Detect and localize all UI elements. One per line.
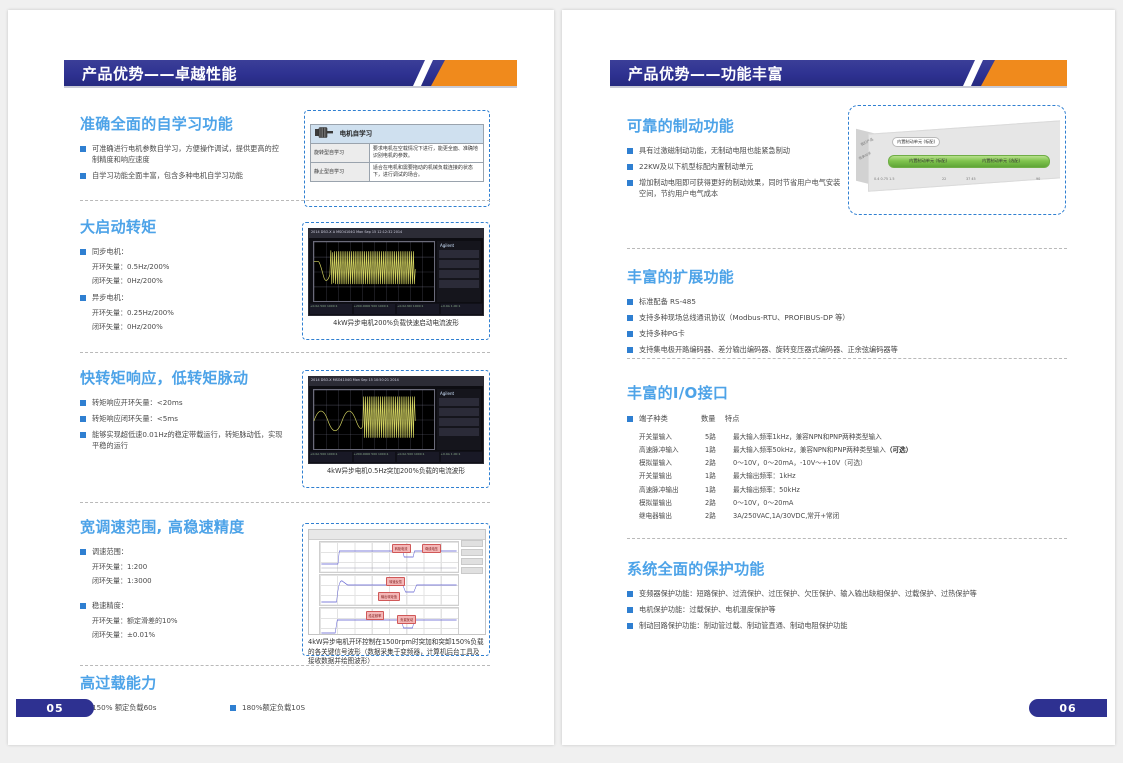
io-feature: 最大输入频率1kHz，兼容NPN和PNP两种类型输入 bbox=[733, 429, 916, 442]
bullet-text: 22KW及以下机型标配内置制动单元 bbox=[639, 161, 753, 172]
page-number: 05 bbox=[46, 702, 63, 715]
bullet-list: 标准配备 RS-485 支持多种现场总线通讯协议（Modbus-RTU、PROF… bbox=[627, 296, 927, 356]
io-quantity: 2路 bbox=[705, 456, 733, 469]
bullet-square-icon bbox=[627, 591, 633, 597]
motor-selflearn-table: 电机自学习 旋转型自学习 要求电机在空载情况下进行，能更全面、准确地识别电机的参… bbox=[310, 124, 484, 182]
scope-footer-cell: +200.0000 500 1000:1 bbox=[354, 452, 396, 462]
scope-figure-2: 2014 DSO-X MSO4104G Mon Sep 15 10:50:21 … bbox=[302, 370, 490, 488]
bullet-item: 180%额定负载10S bbox=[230, 702, 305, 713]
section-start-torque: 大启动转矩 同步电机： 开环矢量：0.5Hz/200% 闭环矢量：0Hz/200… bbox=[80, 216, 285, 335]
table-header-cell: 电机自学习 bbox=[311, 125, 484, 144]
sub-line: 闭环矢量：±0.01% bbox=[92, 630, 285, 641]
io-feature: 最大输入频率50kHz，兼容NPN和PNP两种类型输入（可选） bbox=[733, 442, 916, 455]
left-page: 产品优势——卓越性能 准确全面的自学习功能 可准确进行电机参数自学习，方便操作调… bbox=[8, 10, 554, 745]
io-feature-text: 最大输入频率50kHz，兼容NPN和PNP两种类型输入 bbox=[733, 446, 886, 454]
trend-tag: 输出转矩值 bbox=[378, 592, 400, 601]
io-feature: 最大输出频率：1kHz bbox=[733, 469, 916, 482]
figure-caption: 4kW异步电机0.5Hz突加200%负载的电流波形 bbox=[308, 467, 484, 477]
table-row: 高速脉冲输入 1路 最大输入频率50kHz，兼容NPN和PNP两种类型输入（可选… bbox=[639, 442, 916, 455]
bullet-text: 稳速精度： bbox=[92, 600, 128, 611]
bullet-list: 调速范围： 开环矢量：1:200 闭环矢量：1:3000 稳速精度： 开环矢量：… bbox=[80, 546, 285, 640]
trend-figure: 转矩电流 母线电压 转速反馈 输出转矩值 给定频率 负载扰动 bbox=[302, 523, 490, 656]
section-braking: 可靠的制动功能 具有过激磁制动功能，无制动电阻也能紧急制动 22KW及以下机型标… bbox=[627, 115, 842, 205]
right-page-header: 产品优势——功能丰富 bbox=[610, 60, 1067, 86]
section-title: 宽调速范围, 高稳速精度 bbox=[80, 516, 285, 537]
scope-waveform-1 bbox=[313, 241, 435, 297]
scope-footer-cell: +0.0A 500 1000:1 bbox=[397, 452, 439, 462]
io-quantity: 1路 bbox=[705, 482, 733, 495]
io-feature: 0～10V，0～20mA bbox=[733, 495, 916, 508]
scope-side-block bbox=[439, 428, 479, 436]
trend-plot-1: 转矩电流 母线电压 bbox=[319, 541, 459, 573]
figure-caption: 4kW异步电机开环控制在1500rpm时突加和突卸150%负载的各关键信号波形（… bbox=[308, 638, 484, 667]
io-quantity: 2路 bbox=[705, 508, 733, 521]
section-title: 快转矩响应，低转矩脉动 bbox=[80, 367, 285, 388]
section-title: 大启动转矩 bbox=[80, 216, 285, 237]
section-protection: 系统全面的保护功能 变频器保护功能：短路保护、过流保护、过压保护、欠压保护、输入… bbox=[627, 558, 1069, 636]
bullet-text: 同步电机： bbox=[92, 246, 128, 257]
bullet-text: 150% 额定负载60s bbox=[92, 702, 156, 713]
bullet-square-icon bbox=[80, 249, 86, 255]
bullet-item: 具有过激磁制动功能，无制动电阻也能紧急制动 bbox=[627, 145, 842, 156]
motor-selflearn-figure: 电机自学习 旋转型自学习 要求电机在空载情况下进行，能更全面、准确地识别电机的参… bbox=[304, 110, 490, 207]
trend-plot-2: 转速反馈 输出转矩值 bbox=[319, 574, 459, 606]
io-quantity: 1路 bbox=[705, 469, 733, 482]
bullet-item: 可准确进行电机参数自学习，方便操作调试，提供更高的控制精度和响应速度 bbox=[80, 143, 280, 165]
bullet-item: 自学习功能全面丰富，包含多种电机自学习功能 bbox=[80, 170, 280, 181]
bullet-list: 变频器保护功能：短路保护、过流保护、过压保护、欠压保护、输入输出缺相保护、过载保… bbox=[627, 588, 1069, 631]
page-number: 06 bbox=[1059, 702, 1076, 715]
scope-brand-label: Agilent bbox=[437, 241, 481, 248]
section-self-learning: 准确全面的自学习功能 可准确进行电机参数自学习，方便操作调试，提供更高的控制精度… bbox=[80, 113, 280, 186]
sub-line: 开环矢量：0.25Hz/200% bbox=[92, 308, 285, 319]
overload-row: 150% 额定负载60s 180%额定负载10S bbox=[80, 702, 490, 718]
bullet-square-icon bbox=[80, 416, 86, 422]
bullet-text: 转矩响应闭环矢量：<5ms bbox=[92, 413, 178, 424]
scope-side-block bbox=[439, 280, 479, 288]
trend-chart: 转矩电流 母线电压 转速反馈 输出转矩值 给定频率 负载扰动 bbox=[308, 529, 486, 635]
table-row: 模拟量输出 2路 0～10V，0～20mA bbox=[639, 495, 916, 508]
section-title: 丰富的I/O接口 bbox=[627, 382, 1067, 403]
scope-side-block bbox=[439, 270, 479, 278]
io-col-header: 数量 bbox=[701, 413, 725, 424]
section-title: 高过载能力 bbox=[80, 672, 490, 693]
bullet-text: 支持集电极开路编码器、差分输出编码器、旋转变压器式编码器、正余弦编码器等 bbox=[639, 344, 898, 355]
bullet-text: 调速范围： bbox=[92, 546, 128, 557]
section-title: 准确全面的自学习功能 bbox=[80, 113, 280, 134]
bullet-text: 支持多种现场总线通讯协议（Modbus-RTU、PROFIBUS-DP 等） bbox=[639, 312, 849, 323]
bullet-text: 能够实现超低速0.01Hz的稳定带载运行，转矩脉动低，实现平稳的运行 bbox=[92, 429, 285, 451]
brake-pill-label: 内置制动单元 (标配) bbox=[892, 137, 940, 147]
io-terminal-type: 模拟量输入 bbox=[639, 456, 705, 469]
divider bbox=[80, 665, 490, 666]
trend-side-block bbox=[461, 540, 483, 547]
axis-bottom-label: 0.4 0.75 1.5 bbox=[874, 177, 895, 181]
bullet-text: 制动回路保护功能：制动管过载、制动管直通、制动电阻保护功能 bbox=[639, 620, 847, 631]
bullet-square-icon bbox=[627, 331, 633, 337]
bullet-text: 180%额定负载10S bbox=[242, 702, 305, 713]
scope-topbar: 2014 DSO-X MSO4104G Mon Sep 15 10:50:21 … bbox=[309, 377, 483, 386]
header-orange-slash bbox=[981, 60, 1067, 86]
io-feature: 最大输出频率：50kHz bbox=[733, 482, 916, 495]
bullet-square-icon bbox=[80, 549, 86, 555]
header-underline bbox=[610, 86, 1067, 88]
bullet-square-icon bbox=[80, 146, 86, 152]
row-desc: 要求电机在空载情况下进行，能更全面、准确地识别电机的参数。 bbox=[369, 144, 483, 163]
trend-side-block bbox=[461, 549, 483, 556]
scope-side-block bbox=[439, 408, 479, 416]
section-speed-range: 宽调速范围, 高稳速精度 调速范围： 开环矢量：1:200 闭环矢量：1:300… bbox=[80, 516, 285, 643]
scope-footer-cell: +0.0A 1.00:1 bbox=[441, 452, 483, 462]
table-row: 继电器输出 2路 3A/250VAC,1A/30VDC,常开+常闭 bbox=[639, 508, 916, 521]
trend-tag: 转速反馈 bbox=[386, 577, 405, 586]
scope-figure-1: 2014 DSO-X A MSO4104G Mon Sep 15 12:12:3… bbox=[302, 222, 490, 340]
bullet-square-icon bbox=[80, 432, 86, 438]
header-orange-slash bbox=[431, 60, 517, 86]
trend-toolbar bbox=[309, 530, 485, 540]
bullet-item: 异步电机： bbox=[80, 292, 285, 303]
trend-plot-3: 给定频率 负载扰动 bbox=[319, 607, 459, 635]
bullet-square-icon bbox=[627, 315, 633, 321]
axis-tick-2: 37 45 bbox=[966, 177, 976, 181]
divider bbox=[80, 352, 490, 353]
bullet-item: 电机保护功能：过载保护、电机温度保护等 bbox=[627, 604, 1069, 615]
bullet-square-icon bbox=[80, 295, 86, 301]
divider bbox=[627, 248, 1067, 249]
sub-line: 闭环矢量：0Hz/200% bbox=[92, 276, 285, 287]
scope-sidebar: Agilent bbox=[437, 389, 481, 450]
table-row: 高速脉冲输出 1路 最大输出频率：50kHz bbox=[639, 482, 916, 495]
bullet-item: 稳速精度： bbox=[80, 600, 285, 611]
bullet-item: 能够实现超低速0.01Hz的稳定带载运行，转矩脉动低，实现平稳的运行 bbox=[80, 429, 285, 451]
scope-side-block bbox=[439, 418, 479, 426]
scope-topbar: 2014 DSO-X A MSO4104G Mon Sep 15 12:12:3… bbox=[309, 229, 483, 238]
row-desc: 适合在电机和需要拖动的机械负载连接的状态下，进行调试的场合。 bbox=[369, 163, 483, 182]
scope-footer-cell: +0.0A 1.00:1 bbox=[441, 304, 483, 314]
bullet-text: 支持多种PG卡 bbox=[639, 328, 685, 339]
trend-tag: 负载扰动 bbox=[397, 615, 416, 624]
scope-side-block bbox=[439, 260, 479, 268]
bullet-item: 增加制动电阻即可获得更好的制动效果，同时节省用户电气安装空间，节约用户电气成本 bbox=[627, 177, 842, 199]
bullet-square-icon bbox=[80, 603, 86, 609]
motor-icon bbox=[314, 127, 334, 141]
bullet-item: 支持多种PG卡 bbox=[627, 328, 927, 339]
bullet-text: 电机保护功能：过载保护、电机温度保护等 bbox=[639, 604, 776, 615]
bullet-square-icon bbox=[627, 299, 633, 305]
bullet-text: 自学习功能全面丰富，包含多种电机自学习功能 bbox=[92, 170, 243, 181]
bullet-square-icon bbox=[230, 705, 236, 711]
scope-footer-cell: +0.0A 500 1000:1 bbox=[310, 452, 352, 462]
trend-side-block bbox=[461, 558, 483, 565]
bullet-list: 具有过激磁制动功能，无制动电阻也能紧急制动 22KW及以下机型标配内置制动单元 … bbox=[627, 145, 842, 200]
io-quantity: 1路 bbox=[705, 442, 733, 455]
row-name: 旋转型自学习 bbox=[311, 144, 370, 163]
bullet-item: 转矩响应开环矢量：<20ms bbox=[80, 397, 285, 408]
scope-footer-cell: +0.0A 500 1000:1 bbox=[310, 304, 352, 314]
bullet-text: 变频器保护功能：短路保护、过流保护、过压保护、欠压保护、输入输出缺相保护、过载保… bbox=[639, 588, 977, 599]
bullet-square-icon bbox=[80, 173, 86, 179]
section-title: 丰富的扩展功能 bbox=[627, 266, 927, 287]
right-page: 产品优势——功能丰富 可靠的制动功能 具有过激磁制动功能，无制动电阻也能紧急制动… bbox=[562, 10, 1115, 745]
table-row: 旋转型自学习 要求电机在空载情况下进行，能更全面、准确地识别电机的参数。 bbox=[311, 144, 484, 163]
bullet-text: 可准确进行电机参数自学习，方便操作调试，提供更高的控制精度和响应速度 bbox=[92, 143, 280, 165]
left-page-header: 产品优势——卓越性能 bbox=[64, 60, 517, 86]
table-row: 模拟量输入 2路 0～10V，0～20mA，-10V～+10V（可选） bbox=[639, 456, 916, 469]
bullet-square-icon bbox=[627, 180, 633, 186]
bullet-item: 支持多种现场总线通讯协议（Modbus-RTU、PROFIBUS-DP 等） bbox=[627, 312, 927, 323]
figure-caption: 4kW异步电机200%负载快速启动电流波形 bbox=[308, 319, 484, 329]
bullet-item: 150% 额定负载60s bbox=[80, 702, 230, 713]
bullet-item: 同步电机： bbox=[80, 246, 285, 257]
io-col-header: 特点 bbox=[725, 413, 739, 424]
section-io: 丰富的I/O接口 端子种类 数量 特点 开关量输入 5路 最大输入频率1kHz，… bbox=[627, 382, 1067, 521]
sub-line: 开环矢量：1:200 bbox=[92, 562, 285, 573]
sub-line: 开环矢量：额定滑差的10% bbox=[92, 616, 285, 627]
page-number-tab-left: 05 bbox=[16, 699, 94, 717]
divider bbox=[80, 502, 490, 503]
table-header-row: 电机自学习 bbox=[311, 125, 484, 144]
scope-sidebar: Agilent bbox=[437, 241, 481, 302]
bullet-item: 22KW及以下机型标配内置制动单元 bbox=[627, 161, 842, 172]
scope-footer-cell: +0.0A NO 1000:1 bbox=[397, 304, 439, 314]
left-header-title: 产品优势——卓越性能 bbox=[82, 63, 237, 84]
section-overload: 高过载能力 150% 额定负载60s 180%额定负载10S bbox=[80, 672, 490, 718]
page-number-tab-right: 06 bbox=[1029, 699, 1107, 717]
right-header-title: 产品优势——功能丰富 bbox=[628, 63, 783, 84]
section-title: 系统全面的保护功能 bbox=[627, 558, 1069, 579]
io-quantity: 5路 bbox=[705, 429, 733, 442]
brochure-spread: 产品优势——卓越性能 准确全面的自学习功能 可准确进行电机参数自学习，方便操作调… bbox=[0, 0, 1123, 763]
oscilloscope-screen: 2014 DSO-X A MSO4104G Mon Sep 15 12:12:3… bbox=[308, 228, 484, 316]
scope-side-block bbox=[439, 250, 479, 258]
section-title: 可靠的制动功能 bbox=[627, 115, 842, 136]
motor-table-title: 电机自学习 bbox=[340, 130, 373, 138]
trend-tag: 给定频率 bbox=[366, 611, 385, 620]
sub-line: 开环矢量：0.5Hz/200% bbox=[92, 262, 285, 273]
bullet-square-icon bbox=[627, 164, 633, 170]
divider bbox=[627, 538, 1067, 539]
io-terminal-type: 高速脉冲输出 bbox=[639, 482, 705, 495]
axis-tick-1: 22 bbox=[942, 177, 946, 181]
io-feature-note: （可选） bbox=[886, 446, 912, 454]
brake-bar-label-right: 内置制动单元 (选配) bbox=[982, 158, 1020, 164]
bullet-list: 转矩响应开环矢量：<20ms 转矩响应闭环矢量：<5ms 能够实现超低速0.01… bbox=[80, 397, 285, 452]
table-row: 开关量输出 1路 最大输出频率：1kHz bbox=[639, 469, 916, 482]
bullet-item: 支持集电极开路编码器、差分输出编码器、旋转变压器式编码器、正余弦编码器等 bbox=[627, 344, 927, 355]
bullet-text: 标准配备 RS-485 bbox=[639, 296, 696, 307]
scope-side-block bbox=[439, 398, 479, 406]
trend-tag: 母线电压 bbox=[422, 544, 441, 553]
oscilloscope-screen: 2014 DSO-X MSO4104G Mon Sep 15 10:50:21 … bbox=[308, 376, 484, 464]
brake-unit-chart: 内置制动单元 (标配) 内置制动单元 (标配) 内置制动单元 (选配) 我们产品… bbox=[854, 111, 1060, 197]
bullet-item: 标准配备 RS-485 bbox=[627, 296, 927, 307]
sub-line: 闭环矢量：1:3000 bbox=[92, 576, 285, 587]
io-feature: 0～10V，0～20mA，-10V～+10V（可选） bbox=[733, 456, 916, 469]
scope-footer: +0.0A 500 1000:1 +200.0000 500 1000:1 +0… bbox=[309, 303, 483, 315]
section-extension: 丰富的扩展功能 标准配备 RS-485 支持多种现场总线通讯协议（Modbus-… bbox=[627, 266, 927, 361]
bullet-text: 增加制动电阻即可获得更好的制动效果，同时节省用户电气安装空间，节约用户电气成本 bbox=[639, 177, 842, 199]
io-quantity: 2路 bbox=[705, 495, 733, 508]
divider bbox=[80, 200, 490, 201]
trend-side-block bbox=[461, 567, 483, 574]
scope-brand-label: Agilent bbox=[437, 389, 481, 396]
bullet-list: 可准确进行电机参数自学习，方便操作调试，提供更高的控制精度和响应速度 自学习功能… bbox=[80, 143, 280, 181]
table-row: 静止型自学习 适合在电机和需要拖动的机械负载连接的状态下，进行调试的场合。 bbox=[311, 163, 484, 182]
io-terminal-type: 高速脉冲输入 bbox=[639, 442, 705, 455]
bullet-text: 转矩响应开环矢量：<20ms bbox=[92, 397, 183, 408]
bullet-square-icon bbox=[627, 416, 633, 422]
io-terminal-type: 开关量输出 bbox=[639, 469, 705, 482]
table-row: 开关量输入 5路 最大输入频率1kHz，兼容NPN和PNP两种类型输入 bbox=[639, 429, 916, 442]
bullet-square-icon bbox=[627, 347, 633, 353]
bullet-text: 异步电机： bbox=[92, 292, 128, 303]
scope-waveform-2 bbox=[313, 389, 435, 445]
bullet-item: 调速范围： bbox=[80, 546, 285, 557]
sub-line: 闭环矢量：0Hz/200% bbox=[92, 322, 285, 333]
divider bbox=[627, 358, 1067, 359]
bullet-square-icon bbox=[627, 623, 633, 629]
io-feature: 3A/250VAC,1A/30VDC,常开+常闭 bbox=[733, 508, 916, 521]
brake-bar-label-left: 内置制动单元 (标配) bbox=[909, 158, 947, 164]
io-terminal-type: 开关量输入 bbox=[639, 429, 705, 442]
bullet-text: 具有过激磁制动功能，无制动电阻也能紧急制动 bbox=[639, 145, 790, 156]
bullet-square-icon bbox=[627, 148, 633, 154]
bullet-list: 同步电机： 开环矢量：0.5Hz/200% 闭环矢量：0Hz/200% 异步电机… bbox=[80, 246, 285, 332]
io-table: 开关量输入 5路 最大输入频率1kHz，兼容NPN和PNP两种类型输入 高速脉冲… bbox=[639, 429, 916, 521]
io-col-header: 端子种类 bbox=[639, 413, 701, 424]
scope-footer: +0.0A 500 1000:1 +200.0000 500 1000:1 +0… bbox=[309, 451, 483, 463]
bullet-item: 转矩响应闭环矢量：<5ms bbox=[80, 413, 285, 424]
trend-side-panel bbox=[461, 540, 483, 576]
bullet-item: 制动回路保护功能：制动管过载、制动管直通、制动电阻保护功能 bbox=[627, 620, 1069, 631]
trend-tag: 转矩电流 bbox=[392, 544, 411, 553]
io-terminal-type: 继电器输出 bbox=[639, 508, 705, 521]
header-underline bbox=[64, 86, 517, 88]
section-torque-response: 快转矩响应，低转矩脉动 转矩响应开环矢量：<20ms 转矩响应闭环矢量：<5ms… bbox=[80, 367, 285, 457]
io-header-bullet: 端子种类 数量 特点 bbox=[627, 413, 1067, 424]
scope-footer-cell: +200.0000 500 1000:1 bbox=[354, 304, 396, 314]
brake-unit-figure: 内置制动单元 (标配) 内置制动单元 (标配) 内置制动单元 (选配) 我们产品… bbox=[848, 105, 1066, 215]
io-terminal-type: 模拟量输出 bbox=[639, 495, 705, 508]
bullet-item: 变频器保护功能：短路保护、过流保护、过压保护、欠压保护、输入输出缺相保护、过载保… bbox=[627, 588, 1069, 599]
bullet-square-icon bbox=[80, 400, 86, 406]
row-name: 静止型自学习 bbox=[311, 163, 370, 182]
axis-tick-3: 90 bbox=[1036, 177, 1040, 181]
bullet-square-icon bbox=[627, 607, 633, 613]
